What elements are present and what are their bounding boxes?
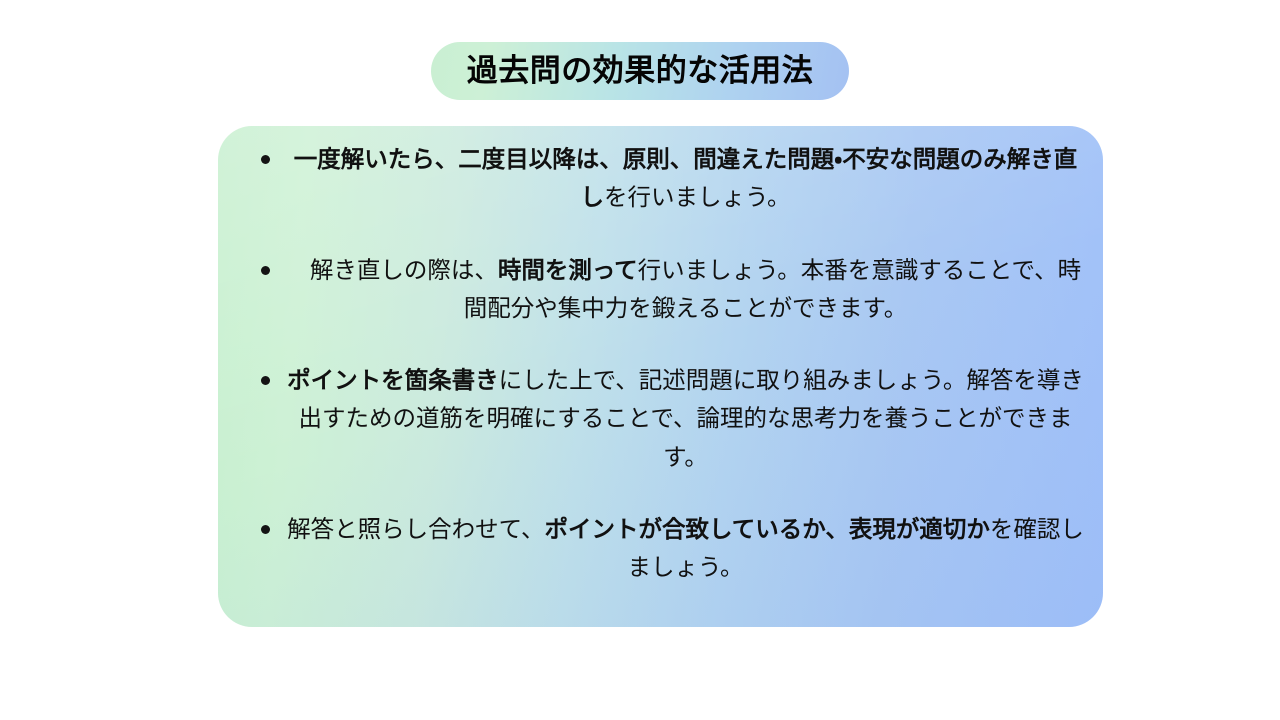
- plain-text: を行いましょう。: [604, 183, 791, 211]
- bullet-point-icon: [261, 376, 270, 385]
- content-card: 一度解いたら、二度目以降は、原則、間違えた問題・不安な問題のみ解き直しを行いまし…: [218, 126, 1103, 627]
- title-pill-background: 過去問の効果的な活用法: [431, 42, 850, 100]
- emphasized-text: ポイントが合致しているか、表現が適切か: [545, 515, 990, 543]
- slide-title-container: 過去問の効果的な活用法: [0, 42, 1280, 100]
- plain-text: 解き直しの際は、: [310, 256, 498, 284]
- bullet-point-icon: [261, 266, 270, 275]
- bullet-point-icon: [261, 155, 270, 164]
- bullet-point-icon: [261, 525, 270, 534]
- emphasized-text: 時間を測って: [498, 256, 638, 284]
- list-item: 解答と照らし合わせて、ポイントが合致しているか、表現が適切かを確認しましょう。: [236, 510, 1085, 587]
- list-item-text: 一度解いたら、二度目以降は、原則、間違えた問題・不安な問題のみ解き直しを行いまし…: [294, 145, 1078, 211]
- list-item-text: 解答と照らし合わせて、ポイントが合致しているか、表現が適切かを確認しましょう。: [287, 515, 1084, 581]
- emphasized-text: ポイントを箇条書き: [287, 366, 499, 394]
- list-item-text: ポイントを箇条書きにした上で、記述問題に取り組みましょう。解答を導き出すための道…: [287, 366, 1084, 471]
- list-item: ポイントを箇条書きにした上で、記述問題に取り組みましょう。解答を導き出すための道…: [236, 361, 1085, 476]
- page-title: 過去問の効果的な活用法: [467, 56, 814, 87]
- plain-text: 解答と照らし合わせて、: [287, 515, 544, 543]
- list-item: 解き直しの際は、時間を測って行いましょう。本番を意識することで、時間配分や集中力…: [236, 251, 1085, 328]
- slide-canvas: 過去問の効果的な活用法 一度解いたら、二度目以降は、原則、間違えた問題・不安な問…: [0, 0, 1280, 720]
- list-item-text: 解き直しの際は、時間を測って行いましょう。本番を意識することで、時間配分や集中力…: [290, 256, 1081, 322]
- bullet-list: 一度解いたら、二度目以降は、原則、間違えた問題・不安な問題のみ解き直しを行いまし…: [236, 140, 1085, 587]
- list-item: 一度解いたら、二度目以降は、原則、間違えた問題・不安な問題のみ解き直しを行いまし…: [236, 140, 1085, 217]
